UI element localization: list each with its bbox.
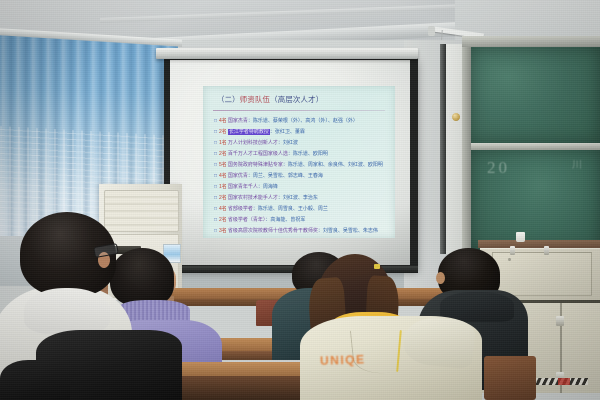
slide-title: （二）师资队伍（高层次人才） xyxy=(217,94,387,105)
slide-title-rule xyxy=(213,110,385,111)
chair-back[interactable] xyxy=(484,356,536,400)
slide-bullet-icon: □ xyxy=(214,140,217,146)
slide-count: 5名 xyxy=(219,162,227,168)
slide-count: 3名 xyxy=(219,228,227,234)
slide-bullet-icon: □ xyxy=(214,151,217,157)
slide-names: 周海锋 xyxy=(263,184,278,190)
slide-names: 陈乐道、欧阳明 xyxy=(293,151,328,157)
slide-count: 2名 xyxy=(219,151,227,157)
slide-names: 陈乐道、周家和、余良伟、刘红波、欧阳明 xyxy=(288,162,383,168)
slide-title-suffix: （高层次人才） xyxy=(270,95,323,104)
blackboard-left-edge xyxy=(462,47,471,250)
slide-names: 陈乐道、周雪良、王小毅、周兰 xyxy=(258,206,328,212)
slide-bullet-icon: □ xyxy=(214,184,217,190)
slide-names: 高海能、曾祝军 xyxy=(270,217,305,223)
slide-bullet-line: □2名国家农村技术能手人才：刘红波、李治东 xyxy=(214,195,318,201)
slide-bullet-line: □2名省级学者（青年）：高海能、曾祝军 xyxy=(214,217,305,223)
slide-bullet-line: □2名百千万人才工程国家级人选：陈乐道、欧阳明 xyxy=(214,151,328,157)
blackboard-chalk-text-right: 川 xyxy=(572,156,600,174)
slide-count: 2名 xyxy=(219,129,227,135)
student-head xyxy=(110,248,174,306)
blackboard-top-rail xyxy=(462,36,600,47)
slide-key: 国家青年千人 xyxy=(228,184,258,190)
slide-names: 刘红波 xyxy=(283,140,298,146)
slide-bullet-line: □1名国家青年千人：周海锋 xyxy=(214,184,278,190)
slide-key: 万人计划科技创新人才 xyxy=(228,140,278,146)
slide-names: 陈乐道、蔡荣根（外）、高鸿（外）、赵强（外） xyxy=(253,118,358,124)
slide-count: 1名 xyxy=(219,140,227,146)
slide-key: 省级高层次院校教师十佳优秀骨干教师奖 xyxy=(228,228,318,234)
slide-key: 长江学者特聘教授 xyxy=(228,129,270,135)
podium-screw xyxy=(508,258,511,261)
slide-names: 周兰、吴雪松、郭志峰、王春海 xyxy=(253,173,323,179)
projection-screen-housing[interactable] xyxy=(156,48,418,59)
slide-bullet-line: □2名长江学者特聘教授：张红卫、董霖 xyxy=(214,129,305,135)
slide-bullet-icon: □ xyxy=(214,118,217,124)
slide-names: 刘雪良、吴雪松、朱志伟 xyxy=(323,228,378,234)
blackboard-chalk-text: 20 xyxy=(487,158,577,184)
slide-key: 省级学者（青年） xyxy=(228,217,266,223)
slide-key: 国务院政府特殊津贴专家 xyxy=(228,162,283,168)
slide-title-prefix: （二） xyxy=(217,95,240,104)
slide-key: 国家优青 xyxy=(228,173,248,179)
slide-key: 国家杰青 xyxy=(228,118,248,124)
slide-count: 2名 xyxy=(219,195,227,201)
hazard-red-marker xyxy=(558,378,570,385)
slide-bullet-icon: □ xyxy=(214,173,217,179)
classroom-photo: 20 川 （二）师资队伍（高层次人才） □4名国家杰青：陈乐道、蔡荣根（外）、高… xyxy=(0,0,600,400)
slide-count: 4名 xyxy=(219,173,227,179)
slide-bullet-icon: □ xyxy=(214,162,217,168)
podium-countertop xyxy=(478,240,600,248)
cup[interactable] xyxy=(516,232,525,242)
projected-slide: （二）师资队伍（高层次人才） □4名国家杰青：陈乐道、蔡荣根（外）、高鸿（外）、… xyxy=(203,86,395,238)
hair-clip-icon xyxy=(374,264,380,269)
slide-bullet-icon: □ xyxy=(214,206,217,212)
slide-key: 国家农村技术能手人才 xyxy=(228,195,278,201)
slide-key: 省部级学者 xyxy=(228,206,253,212)
door-knob-icon[interactable] xyxy=(452,113,460,121)
slide-bullet-icon: □ xyxy=(214,195,217,201)
slide-count: 4名 xyxy=(219,118,227,124)
slide-bullet-icon: □ xyxy=(214,129,217,135)
slide-names: 张红卫、董霖 xyxy=(275,129,305,135)
slide-bullet-line: □1名万人计划科技创新人才：刘红波 xyxy=(214,140,298,146)
slide-count: 4名 xyxy=(219,206,227,212)
podium-access-panel[interactable] xyxy=(492,252,592,296)
slide-bullet-line: □3名省级高层次院校教师十佳优秀骨干教师奖：刘雪良、吴雪松、朱志伟 xyxy=(214,228,378,234)
blackboard-mid-rail xyxy=(466,143,600,150)
podium-clip[interactable] xyxy=(510,246,515,255)
cabinet-hinge-icon xyxy=(556,316,564,326)
slide-bullet-line: □4名国家杰青：陈乐道、蔡荣根（外）、高鸿（外）、赵强（外） xyxy=(214,118,358,124)
air-conditioner-grille xyxy=(104,190,179,232)
student-ear xyxy=(436,272,445,284)
slide-bullet-icon: □ xyxy=(214,217,217,223)
door-edge xyxy=(440,44,446,254)
slide-count: 2名 xyxy=(219,217,227,223)
podium-clip[interactable] xyxy=(544,246,549,255)
slide-bullet-line: □4名省部级学者：陈乐道、周雪良、王小毅、周兰 xyxy=(214,206,328,212)
slide-bullet-line: □4名国家优青：周兰、吴雪松、郭志峰、王春海 xyxy=(214,173,323,179)
slide-title-main: 师资队伍 xyxy=(240,95,270,104)
slide-bullet-icon: □ xyxy=(214,228,217,234)
student-black-jacket-side xyxy=(0,360,70,400)
slide-names: 刘红波、李治东 xyxy=(283,195,318,201)
slide-bullet-line: □5名国务院政府特殊津贴专家：陈乐道、周家和、余良伟、刘红波、欧阳明 xyxy=(214,162,383,168)
slide-count: 1名 xyxy=(219,184,227,190)
student-hood xyxy=(24,288,110,334)
blackboard-upper-panel xyxy=(470,47,600,143)
ceiling-bracket-knob xyxy=(428,26,435,36)
slide-key: 百千万人才工程国家级人选 xyxy=(228,151,288,157)
